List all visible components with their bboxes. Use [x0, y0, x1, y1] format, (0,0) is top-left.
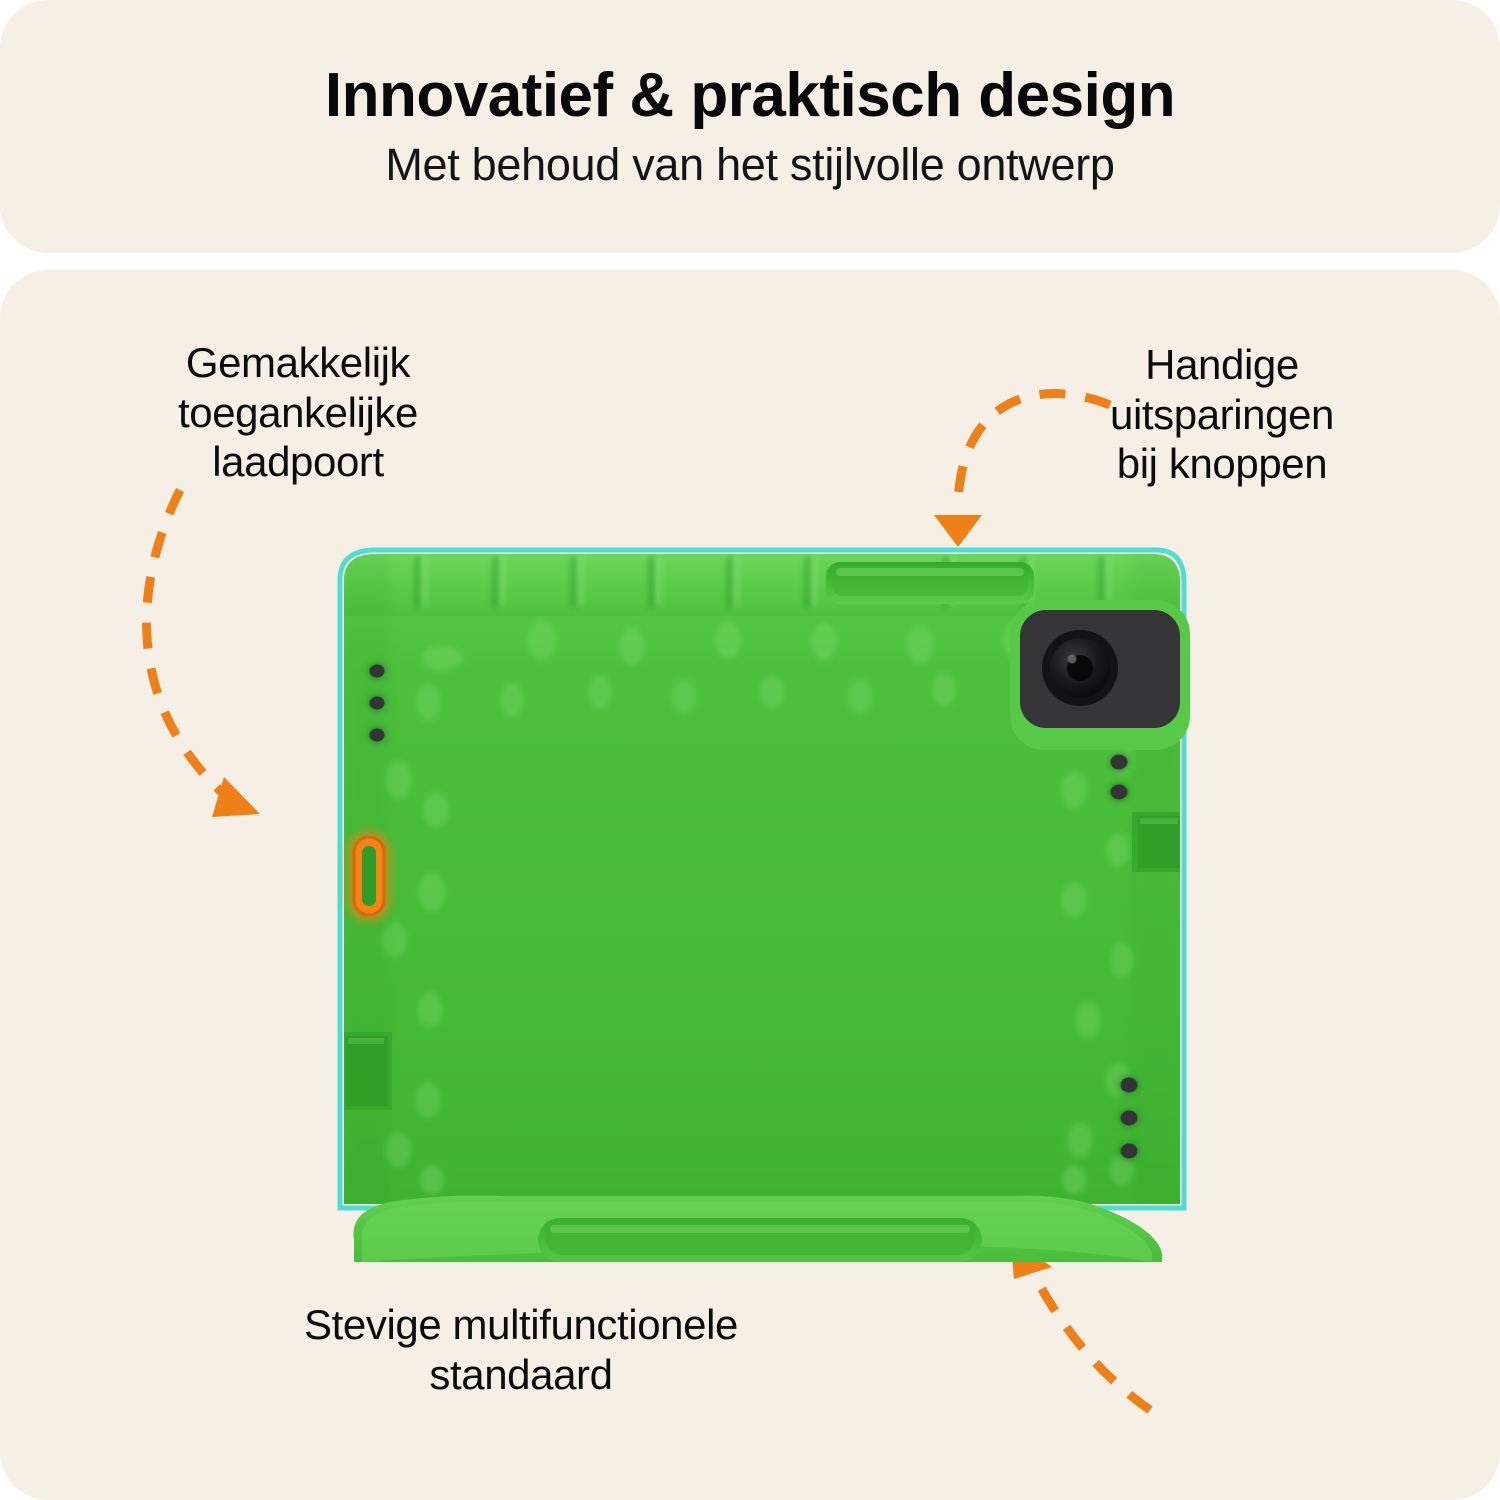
speaker-holes-bottom-right [1119, 1076, 1139, 1160]
stand-handle-groove [538, 1218, 982, 1262]
side-notch-right [1132, 812, 1180, 872]
callout-label-charging-port: Gemakkelijk toegankelijke laadpoort [88, 338, 508, 487]
header-panel: Innovatief & praktisch design Met behoud… [0, 0, 1500, 253]
multifunctional-stand [353, 1196, 1162, 1263]
callout-label-button-cutouts: Handige uitsparingen bij knoppen [1052, 340, 1392, 489]
product-image-kids-tablet-case [332, 540, 1192, 1262]
page-title: Innovatief & praktisch design [325, 63, 1175, 128]
callout-label-stand: Stevige multifunctionele standaard [186, 1300, 856, 1399]
speaker-holes-top-left [368, 663, 386, 743]
page-subtitle: Met behoud van het stijlvolle ontwerp [385, 140, 1114, 190]
charging-port-cutout [354, 837, 384, 915]
camera-cutout [1010, 600, 1190, 750]
side-notch-left [344, 1032, 392, 1110]
button-groove-cutout [826, 562, 1034, 604]
